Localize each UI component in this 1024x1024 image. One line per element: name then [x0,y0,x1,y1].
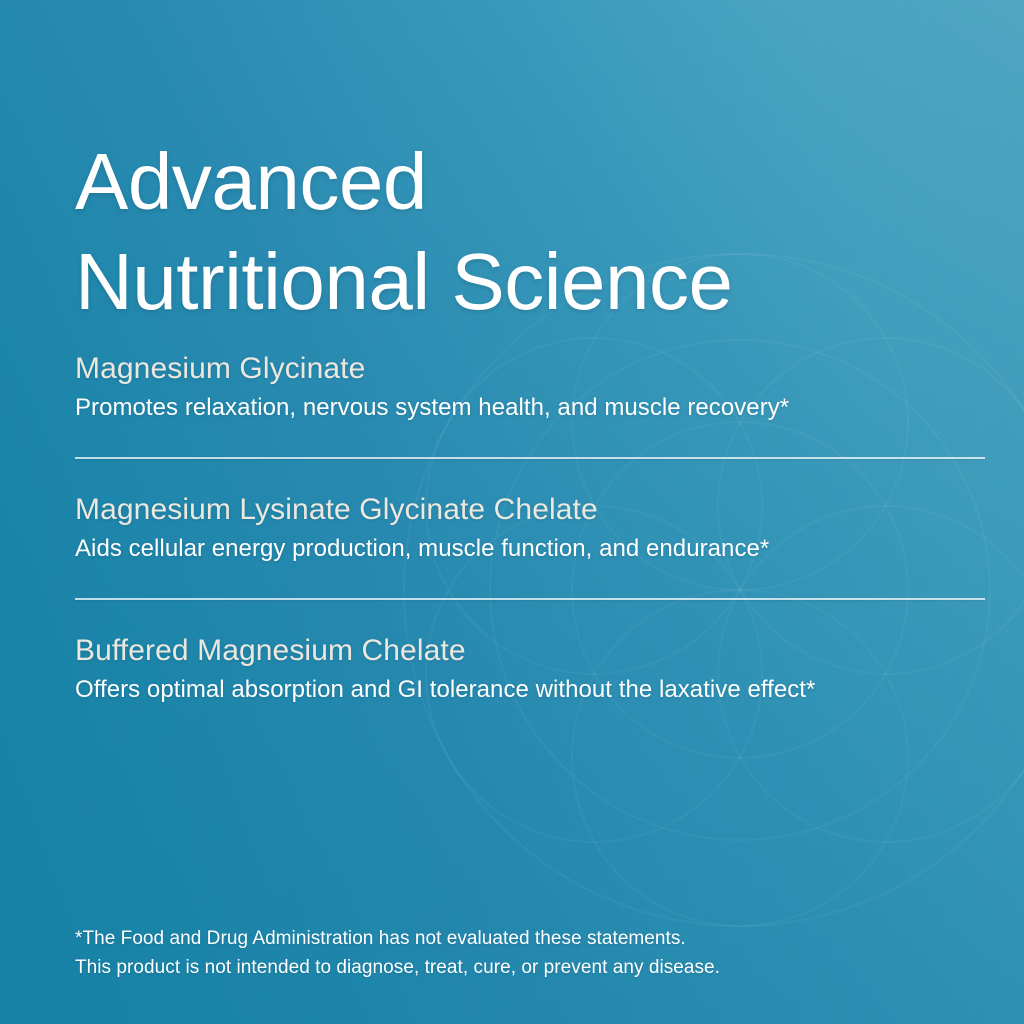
list-item: Buffered Magnesium Chelate Offers optima… [75,634,985,705]
ingredient-name: Magnesium Glycinate [75,352,985,385]
ingredient-description: Offers optimal absorption and GI toleran… [75,676,985,705]
divider [75,457,985,459]
fda-disclaimer: *The Food and Drug Administration has no… [75,925,905,983]
product-info-poster: Advanced Nutritional Science Magnesium G… [0,0,1024,1024]
page-title: Advanced Nutritional Science [75,132,985,334]
divider [75,598,985,600]
ingredient-name: Magnesium Lysinate Glycinate Chelate [75,493,985,526]
title-line-1: Advanced [75,132,985,233]
title-line-2: Nutritional Science [75,232,985,333]
ingredient-description: Promotes relaxation, nervous system heal… [75,394,985,423]
list-item: Magnesium Lysinate Glycinate Chelate Aid… [75,493,985,564]
ingredient-name: Buffered Magnesium Chelate [75,634,985,667]
ingredient-description: Aids cellular energy production, muscle … [75,535,985,564]
disclaimer-line-1: *The Food and Drug Administration has no… [75,925,905,954]
ingredient-list: Magnesium Glycinate Promotes relaxation,… [75,352,985,704]
disclaimer-line-2: This product is not intended to diagnose… [75,954,905,983]
poster-content: Advanced Nutritional Science Magnesium G… [75,0,985,1024]
list-item: Magnesium Glycinate Promotes relaxation,… [75,352,985,423]
